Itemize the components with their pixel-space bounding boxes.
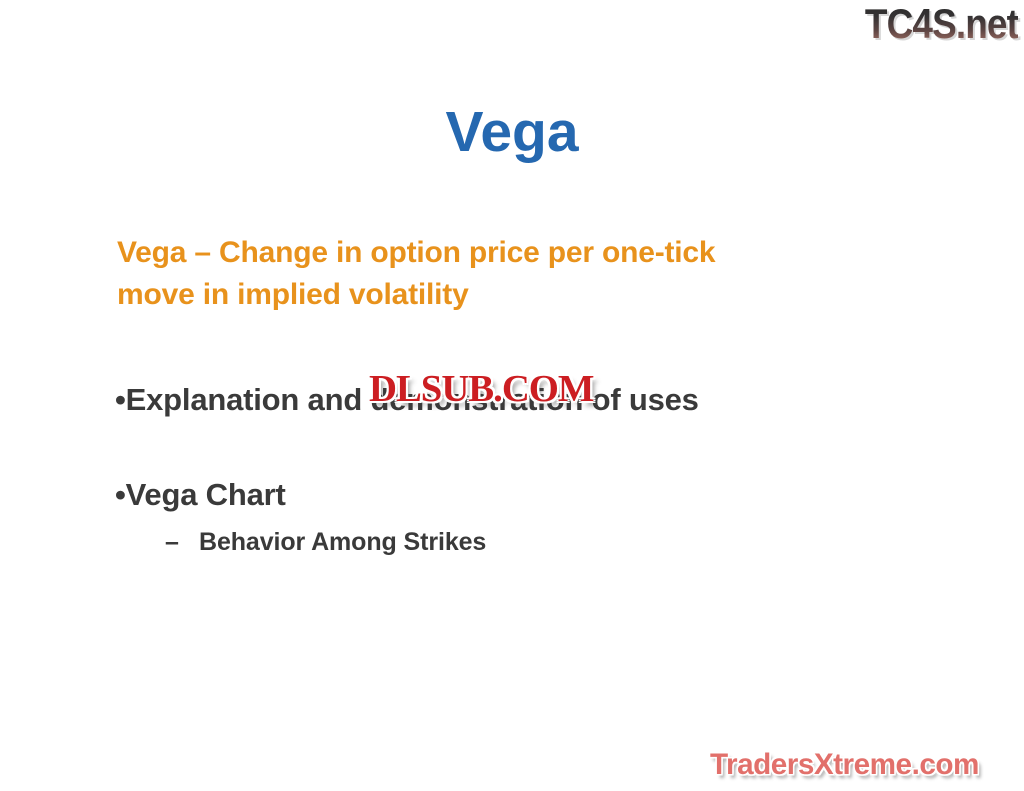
bullet-label-vega-chart: Vega Chart xyxy=(126,477,286,512)
bullet-marker-icon: • xyxy=(115,382,126,417)
sub-bullet-label-behavior: Behavior Among Strikes xyxy=(199,528,486,556)
bullet-item-vega-chart: •Vega Chart xyxy=(115,478,286,512)
dlsub-watermark: DLSUB.COM xyxy=(369,367,593,411)
page-title: Vega xyxy=(0,103,1024,163)
lead-paragraph-line-2: move in implied volatility xyxy=(117,274,917,316)
slide-canvas: TC4S.net TC4S.net Vega Vega – Change in … xyxy=(0,0,1024,791)
dash-marker-icon: – xyxy=(165,529,199,557)
tradersxtreme-watermark: TradersXtreme.com xyxy=(710,748,979,782)
lead-paragraph-line-1: Vega – Change in option price per one-ti… xyxy=(117,232,917,274)
lead-paragraph: Vega – Change in option price per one-ti… xyxy=(117,232,917,316)
sub-bullet-item-behavior: –Behavior Among Strikes xyxy=(165,529,486,557)
bullet-marker-icon: • xyxy=(115,477,126,512)
tc4s-logo: TC4S.net xyxy=(865,2,1018,46)
